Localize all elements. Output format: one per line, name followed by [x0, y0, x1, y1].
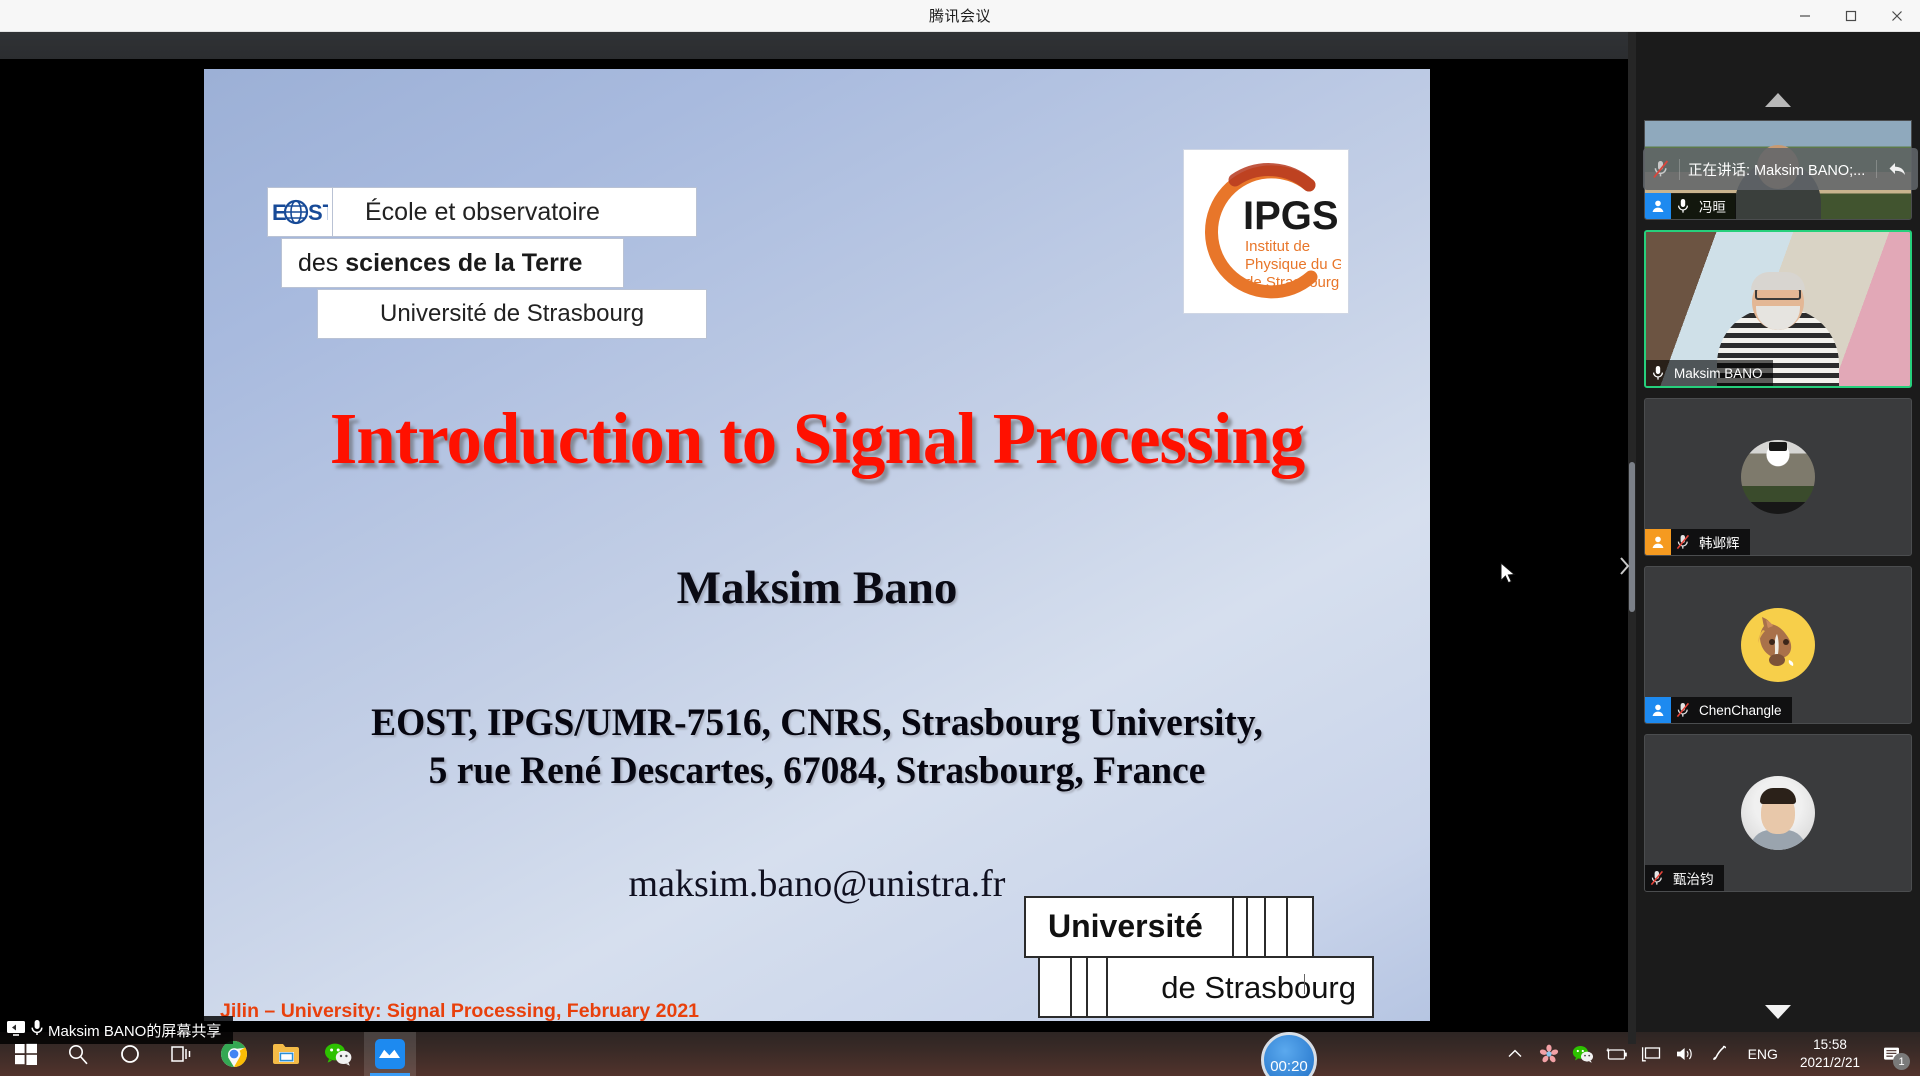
- eost-globe-icon: E ST: [267, 187, 333, 237]
- participant-name: Maksim BANO: [1670, 366, 1763, 381]
- participant-tiles: 冯晅 Maksim BANO: [1636, 120, 1920, 1010]
- unistra-line-1-text: Université: [1048, 908, 1203, 945]
- search-icon: [67, 1043, 89, 1065]
- sakura-tray-icon[interactable]: [1532, 1032, 1566, 1076]
- chrome-icon: [220, 1040, 248, 1068]
- mouse-cursor: [1500, 562, 1518, 591]
- microphone-on-icon: [1671, 198, 1695, 214]
- scroll-up-button[interactable]: [1636, 80, 1920, 120]
- minimize-button[interactable]: [1782, 0, 1828, 32]
- eost-line-3: Université de Strasbourg: [317, 289, 707, 339]
- avatar-image: [1741, 776, 1815, 850]
- notification-center-button[interactable]: 1: [1870, 1032, 1914, 1076]
- avatar: [1645, 697, 1671, 723]
- clock-time: 15:58: [1800, 1036, 1860, 1054]
- scrollbar-thumb[interactable]: [1629, 462, 1635, 612]
- window-title-bar: 腾讯会议: [0, 0, 1920, 32]
- stage-top-strip: [0, 32, 1636, 59]
- unistra-bar-5: [1070, 958, 1072, 1016]
- screen: 腾讯会议 E: [0, 0, 1920, 1076]
- pen-tray-icon[interactable]: [1702, 1032, 1736, 1076]
- meeting-timer[interactable]: 00:20: [1261, 1032, 1317, 1076]
- chevron-right-icon: [1617, 555, 1631, 577]
- svg-text:IPGS: IPGS: [1243, 194, 1339, 238]
- wechat-icon: [324, 1042, 352, 1066]
- eost-line-3-text: Université de Strasbourg: [318, 300, 644, 328]
- slide-footer: Jilin – University: Signal Processing, F…: [220, 997, 1020, 1021]
- window-controls: [1782, 0, 1920, 32]
- maximize-button[interactable]: [1828, 0, 1874, 32]
- participant-namebar: 冯晅: [1645, 193, 1736, 219]
- avatar-image: [1741, 440, 1815, 514]
- unistra-line-1-box: Université: [1024, 896, 1314, 958]
- flower-icon: [1539, 1044, 1559, 1064]
- unistra-logo: Université de Strasbourg: [1024, 896, 1374, 1018]
- unistra-line-2-text: de Strasbourg: [1161, 970, 1356, 1006]
- chevron-up-icon: [1507, 1046, 1523, 1062]
- volume-tray-icon[interactable]: [1668, 1032, 1702, 1076]
- screen-share-tag: Maksim BANO的屏幕共享: [0, 1016, 233, 1044]
- unistra-bar-7: [1106, 958, 1108, 1016]
- svg-text:Institut de: Institut de: [1245, 238, 1310, 255]
- participant-namebar: ChenChangle: [1645, 697, 1792, 723]
- ipgs-arc-icon: IPGS Institut de Physique du Globe de St…: [1191, 157, 1341, 307]
- slide-affiliation: EOST, IPGS/UMR-7516, CNRS, Strasbourg Un…: [229, 699, 1406, 794]
- ipgs-logo: IPGS Institut de Physique du Globe de St…: [1183, 149, 1349, 314]
- screen-share-icon: [6, 1020, 26, 1041]
- language-indicator[interactable]: ENG: [1736, 1046, 1790, 1062]
- wechat-tray-icon[interactable]: [1566, 1032, 1600, 1076]
- speaker-icon: [1675, 1045, 1695, 1063]
- unistra-bar-3: [1264, 898, 1266, 956]
- active-speaker-text: 正在讲话: Maksim BANO;...: [1679, 159, 1876, 180]
- clock[interactable]: 15:58 2021/2/21: [1790, 1036, 1870, 1072]
- microphone-muted-icon: [1671, 702, 1695, 718]
- participant-namebar: Maksim BANO: [1646, 360, 1773, 386]
- participant-tile[interactable]: 甄治钧: [1644, 734, 1912, 892]
- eost-line-1: École et observatoire: [332, 187, 697, 237]
- avatar: [1645, 193, 1671, 219]
- participant-namebar: 甄治钧: [1645, 865, 1724, 891]
- participant-tile[interactable]: 韩邺辉: [1644, 398, 1912, 556]
- scroll-down-button[interactable]: [1636, 992, 1920, 1032]
- horse-avatar-icon: [1741, 608, 1815, 682]
- window-title: 腾讯会议: [929, 5, 991, 26]
- eost-line-1-text: École et observatoire: [333, 198, 600, 227]
- triangle-up-icon: [1765, 93, 1791, 107]
- participant-name: 韩邺辉: [1695, 532, 1740, 552]
- notification-badge: 1: [1893, 1053, 1910, 1070]
- participant-tile[interactable]: ChenChangle: [1644, 566, 1912, 724]
- participants-scrollbar[interactable]: [1628, 32, 1636, 1044]
- eost-line-2: des sciences de la Terre: [281, 238, 624, 288]
- microphone-on-icon: [1646, 365, 1670, 381]
- system-tray: ENG 15:58 2021/2/21 1: [1498, 1032, 1920, 1076]
- eost-line-2-text: des sciences de la Terre: [298, 249, 582, 278]
- avatar: [1645, 529, 1671, 555]
- microphone-icon: [26, 1019, 44, 1042]
- affiliation-line-1: EOST, IPGS/UMR-7516, CNRS, Strasbourg Un…: [229, 699, 1406, 747]
- display-tray-icon[interactable]: [1634, 1032, 1668, 1076]
- microphone-muted-icon: [1643, 159, 1679, 179]
- microphone-muted-icon: [1645, 870, 1669, 886]
- slide-author: Maksim Bano: [204, 561, 1430, 615]
- unistra-bar-6: [1086, 958, 1088, 1016]
- svg-text:Physique du Globe: Physique du Globe: [1245, 256, 1341, 273]
- participant-name: ChenChangle: [1695, 703, 1782, 718]
- slide-title: Introduction to Signal Processing: [222, 397, 1411, 481]
- circle-icon: [119, 1043, 141, 1065]
- folder-icon: [272, 1042, 300, 1066]
- shared-screen-stage[interactable]: E ST École et observatoire des sciences …: [0, 32, 1636, 1044]
- participant-namebar: 韩邺辉: [1645, 529, 1750, 555]
- pen-icon: [1709, 1045, 1729, 1063]
- file-explorer-app[interactable]: [260, 1032, 312, 1076]
- tencent-meeting-app[interactable]: [364, 1032, 416, 1076]
- wechat-app[interactable]: [312, 1032, 364, 1076]
- participant-tile[interactable]: Maksim BANO: [1644, 230, 1912, 388]
- tencent-meeting-icon: [375, 1039, 405, 1069]
- meeting-window: E ST École et observatoire des sciences …: [0, 32, 1920, 1044]
- unistra-bar-2: [1246, 898, 1248, 956]
- clock-date: 2021/2/21: [1800, 1054, 1860, 1072]
- active-speaker-banner[interactable]: 正在讲话: Maksim BANO;...: [1643, 148, 1918, 190]
- windows-logo-icon: [15, 1043, 37, 1065]
- return-arrow-icon[interactable]: [1876, 160, 1918, 178]
- presentation-slide: E ST École et observatoire des sciences …: [204, 69, 1430, 1021]
- text-cursor: [1304, 974, 1305, 994]
- close-button[interactable]: [1874, 0, 1920, 32]
- participant-name: 甄治钧: [1669, 868, 1714, 888]
- avatar-image: [1741, 608, 1815, 682]
- collapse-panel-button[interactable]: [1613, 544, 1635, 588]
- show-hidden-icons-button[interactable]: [1498, 1032, 1532, 1076]
- battery-icon: [1605, 1046, 1629, 1062]
- task-view-icon: [170, 1043, 194, 1065]
- unistra-bar-1: [1232, 898, 1234, 956]
- affiliation-line-2: 5 rue René Descartes, 67084, Strasbourg,…: [229, 747, 1406, 795]
- svg-text:de Strasbourg: de Strasbourg: [1245, 274, 1339, 291]
- unistra-bar-4: [1286, 898, 1288, 956]
- unistra-line-2-box: de Strasbourg: [1038, 956, 1374, 1018]
- eost-logo: E ST École et observatoire des sciences …: [267, 187, 727, 342]
- footer-line-1: Jilin – University: Signal Processing, F…: [220, 997, 1020, 1021]
- participant-name: 冯晅: [1695, 196, 1726, 216]
- wechat-icon: [1572, 1045, 1594, 1063]
- svg-text:ST: ST: [308, 200, 328, 225]
- monitor-icon: [1641, 1046, 1661, 1063]
- triangle-down-icon: [1765, 1005, 1791, 1019]
- screen-share-tag-text: Maksim BANO的屏幕共享: [44, 1020, 221, 1041]
- microphone-muted-icon: [1671, 534, 1695, 550]
